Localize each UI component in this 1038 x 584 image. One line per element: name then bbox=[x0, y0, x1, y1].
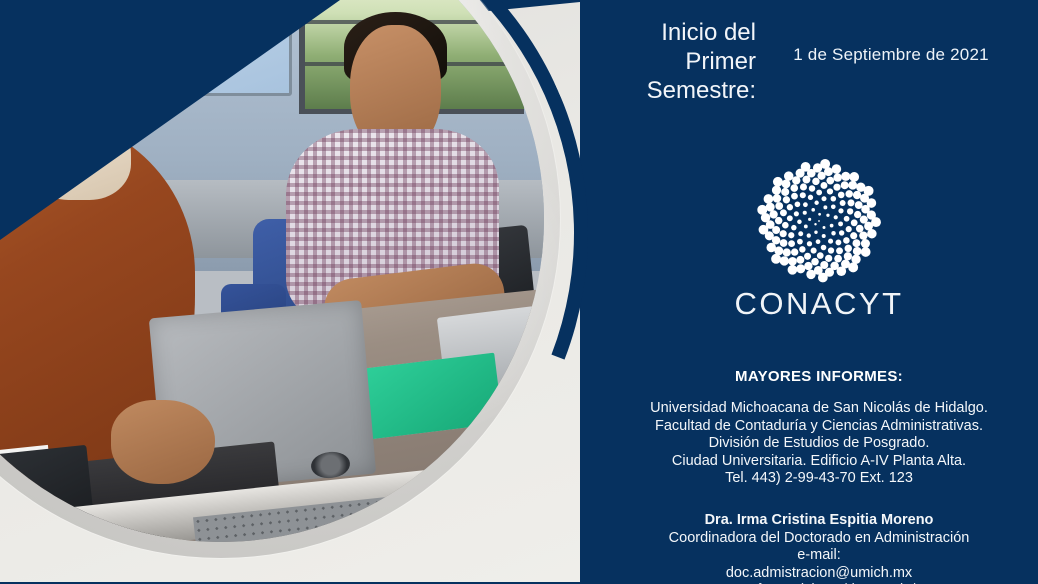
mayores-informes-heading: MAYORES INFORMES: bbox=[600, 368, 1038, 385]
email-label: e-mail: bbox=[600, 547, 1038, 565]
conacyt-logo: CONACYT bbox=[600, 158, 1038, 322]
photo-person-1-hand bbox=[111, 400, 214, 484]
conacyt-wordmark: CONACYT bbox=[600, 286, 1038, 322]
address-block: Universidad Michoacana de San Nicolás de… bbox=[600, 400, 1038, 488]
address-line: Universidad Michoacana de San Nicolás de… bbox=[600, 400, 1038, 418]
info-panel: Inicio del Primer Semestre: 1 de Septiem… bbox=[600, 0, 1038, 584]
semester-start-date: 1 de Septiembre de 2021 bbox=[760, 45, 1022, 65]
address-line: Facultad de Contaduría y Ciencias Admini… bbox=[600, 418, 1038, 436]
slide-root: Inicio del Primer Semestre: 1 de Septiem… bbox=[0, 0, 1038, 584]
coordinator-block: Dra. Irma Cristina Espitia Moreno Coordi… bbox=[600, 512, 1038, 584]
coordinator-name: Dra. Irma Cristina Espitia Moreno bbox=[600, 512, 1038, 530]
conacyt-spiral-icon bbox=[756, 158, 882, 284]
coordinator-role: Coordinadora del Doctorado en Administra… bbox=[600, 530, 1038, 548]
address-line-phone: Tel. 443) 2-99-43-70 Ext. 123 bbox=[600, 470, 1038, 488]
address-line: Ciudad Universitaria. Edificio A-IV Plan… bbox=[600, 453, 1038, 471]
semester-start-label: Inicio del Primer Semestre: bbox=[616, 18, 756, 105]
email-address[interactable]: doc.admistracion@umich.mx bbox=[600, 565, 1038, 583]
address-line: División de Estudios de Posgrado. bbox=[600, 435, 1038, 453]
